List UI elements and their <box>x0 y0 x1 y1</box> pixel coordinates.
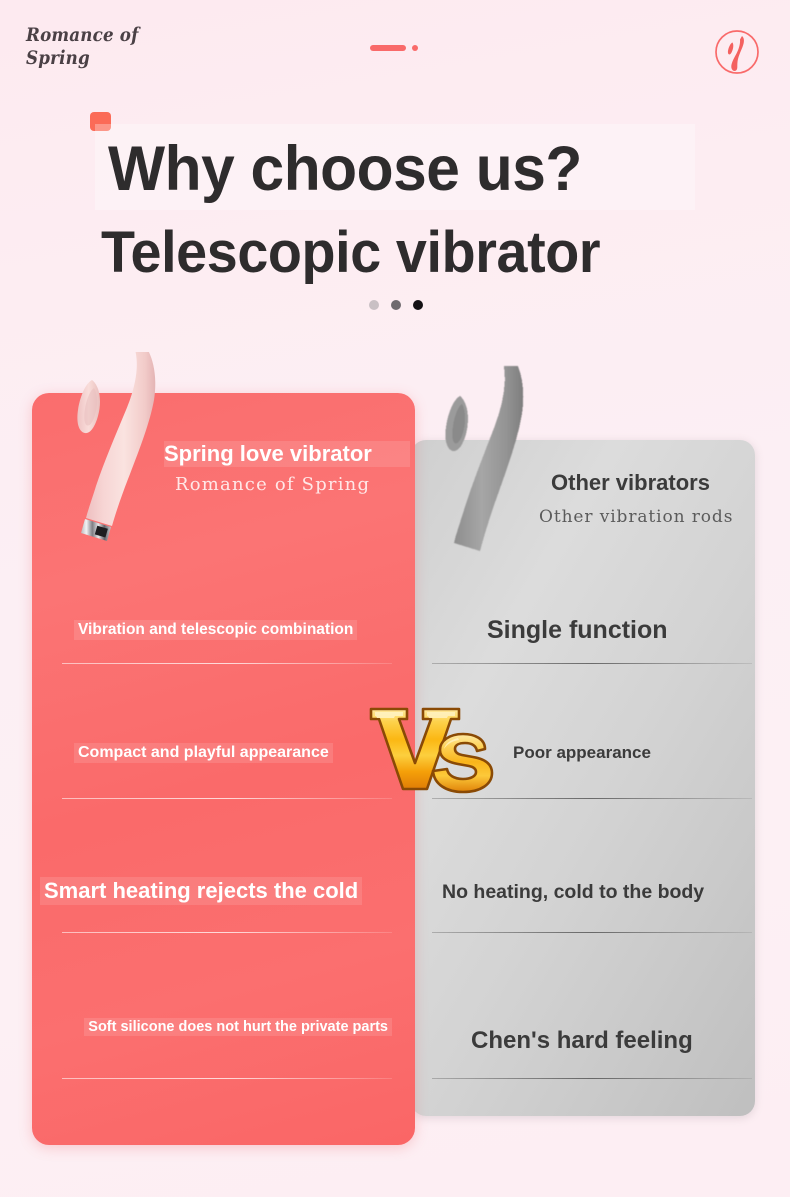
feature-row-other-2: Poor appearance <box>513 740 790 766</box>
feature-text: No heating, cold to the body <box>442 881 704 904</box>
page-header: Romance of Spring <box>0 0 790 100</box>
indicator-dot-2[interactable] <box>391 300 401 310</box>
brand-line-1: Romance of <box>26 24 202 47</box>
feature-row-other-3: No heating, cold to the body <box>442 878 772 906</box>
feature-text: Vibration and telescopic combination <box>74 620 357 640</box>
page-title: Why choose us? <box>108 126 684 212</box>
divider-ours-4 <box>62 1078 392 1079</box>
rabbit-vibrator-logo-icon <box>712 27 762 77</box>
feature-text: Chen's hard feeling <box>471 1027 693 1055</box>
feature-row-other-4: Chen's hard feeling <box>471 1025 790 1057</box>
divider-ours-2 <box>62 798 392 799</box>
feature-row-ours-2: Compact and playful appearance <box>74 738 404 768</box>
divider-other-3 <box>432 932 752 933</box>
brand-line-2: Spring <box>26 47 202 70</box>
indicator-dot-1[interactable] <box>369 300 379 310</box>
dash-icon <box>370 45 406 51</box>
page-subtitle: Telescopic vibrator <box>101 215 715 291</box>
indicator-dot-3[interactable] <box>413 300 423 310</box>
card-ours-heading: Spring love vibrator <box>164 441 410 467</box>
header-divider-mark <box>370 45 418 51</box>
feature-text: Smart heating rejects the cold <box>40 877 362 905</box>
feature-text: Single function <box>487 616 668 645</box>
card-other-heading: Other vibrators <box>551 470 781 496</box>
divider-other-1 <box>432 663 752 664</box>
vs-badge <box>363 697 505 801</box>
slide-indicator-dots <box>369 300 423 310</box>
card-ours-subheading: Romance of Spring <box>175 474 415 495</box>
card-other-subheading: Other vibration rods <box>539 507 779 527</box>
product-image-ours <box>48 352 172 552</box>
feature-text: Poor appearance <box>513 743 651 763</box>
brand-name: Romance of Spring <box>26 24 202 70</box>
divider-ours-1 <box>62 663 392 664</box>
feature-row-ours-1: Vibration and telescopic combination <box>74 616 404 644</box>
dot-icon <box>412 45 418 51</box>
feature-row-ours-3: Smart heating rejects the cold <box>40 874 370 908</box>
feature-text: Compact and playful appearance <box>74 743 333 763</box>
feature-row-other-1: Single function <box>487 614 790 646</box>
divider-ours-3 <box>62 932 392 933</box>
feature-row-ours-4: Soft silicone does not hurt the private … <box>62 1017 392 1038</box>
product-image-other <box>418 366 530 574</box>
feature-text: Soft silicone does not hurt the private … <box>84 1018 392 1036</box>
divider-other-4 <box>432 1078 752 1079</box>
